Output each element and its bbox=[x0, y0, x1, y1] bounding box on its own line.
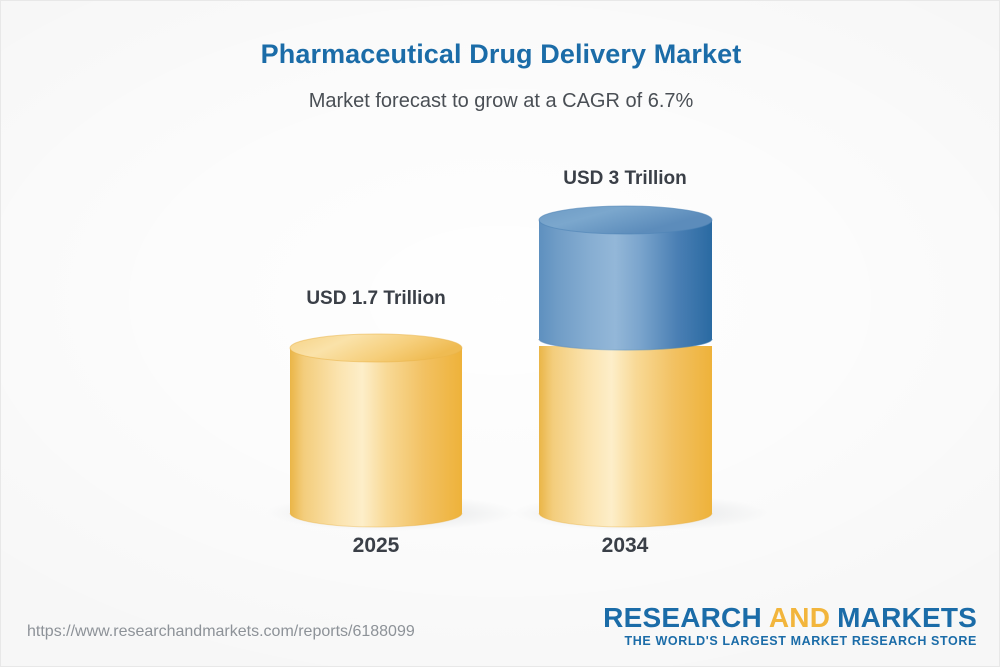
infographic-canvas: Pharmaceutical Drug Delivery Market Mark… bbox=[0, 0, 1000, 667]
cylinder-2034-base-segment bbox=[539, 346, 712, 527]
chart-area: Pharmaceutical Drug Delivery Market Mark… bbox=[1, 1, 1000, 667]
logo-word-and: AND bbox=[769, 602, 830, 633]
logo-word-markets: MARKETS bbox=[837, 602, 977, 633]
logo-wordmark: RESEARCHANDMARKETS bbox=[603, 603, 977, 632]
value-label-2034: USD 3 Trillion bbox=[425, 168, 825, 190]
cylinder-2025 bbox=[290, 334, 462, 527]
logo-tagline: THE WORLD'S LARGEST MARKET RESEARCH STOR… bbox=[603, 634, 977, 648]
logo-word-research: RESEARCH bbox=[603, 602, 762, 633]
report-url[interactable]: https://www.researchandmarkets.com/repor… bbox=[27, 623, 415, 641]
value-label-2025: USD 1.7 Trillion bbox=[176, 288, 576, 310]
category-label-2034: 2034 bbox=[425, 534, 825, 558]
page-title: Pharmaceutical Drug Delivery Market bbox=[1, 39, 1000, 70]
cylinder-2025-body bbox=[290, 348, 462, 527]
cylinder-2034-growth-segment bbox=[539, 220, 712, 350]
cylinder-2034 bbox=[539, 206, 712, 527]
page-subtitle: Market forecast to grow at a CAGR of 6.7… bbox=[1, 90, 1000, 113]
research-and-markets-logo[interactable]: RESEARCHANDMARKETS THE WORLD'S LARGEST M… bbox=[603, 603, 977, 648]
